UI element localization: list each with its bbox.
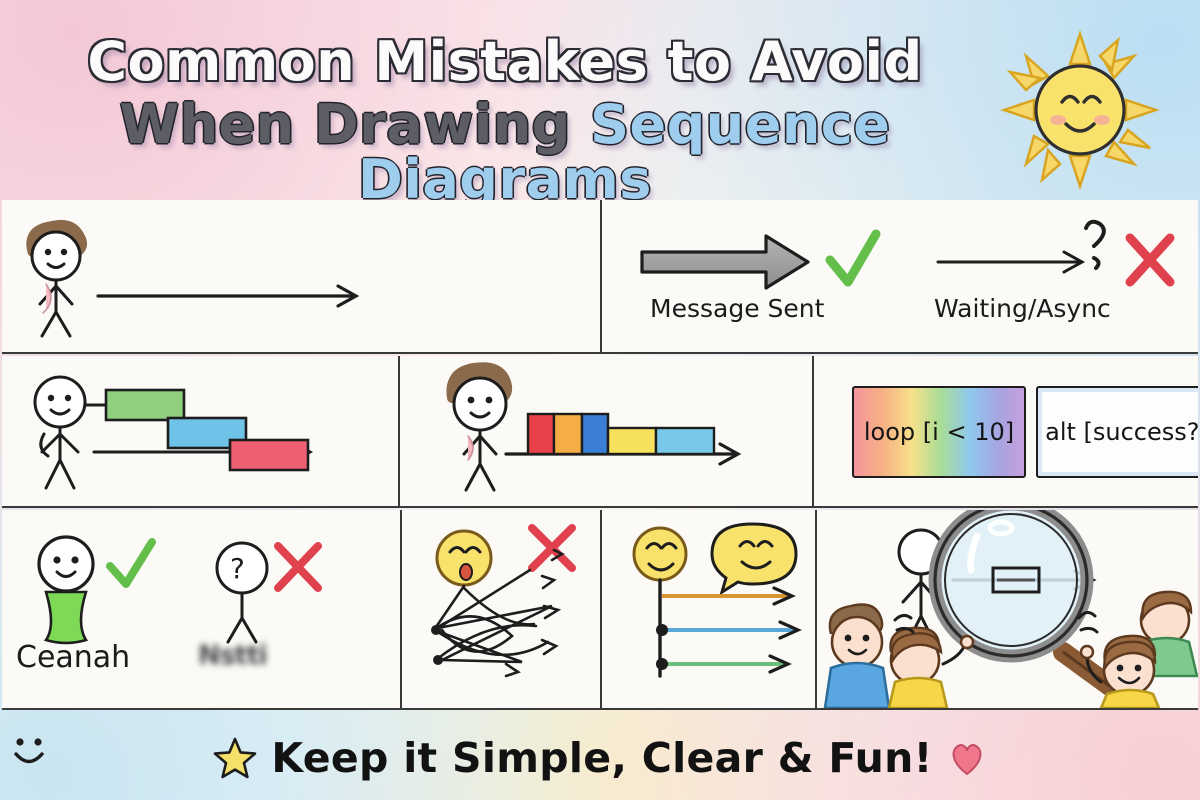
smiling-head-icon	[39, 537, 93, 643]
kid-yellow-icon	[889, 628, 973, 708]
tangled-arrows-illustration	[402, 510, 600, 708]
poster-canvas: Common Mistakes to Avoid When Drawing Se…	[0, 0, 1200, 800]
heart-icon	[947, 738, 987, 778]
label-bad-name: Nstti	[198, 640, 267, 671]
grid-rowline-3	[2, 708, 1198, 710]
too-much-detail-illustration	[817, 510, 1198, 708]
panel-arrow-types: Message Sent Waiting/Async	[602, 200, 1198, 352]
overloaded-lifeline-illustration	[400, 356, 812, 506]
panel-grid: Message Sent Waiting/Async	[2, 198, 1198, 712]
bottom-banner: Keep it Simple, Clear & Fun!	[0, 716, 1200, 800]
arrow-types-illustration	[602, 200, 1198, 352]
speech-bubble-face-icon	[712, 524, 796, 592]
fragment-box-alt: alt [success?]	[1036, 386, 1198, 478]
panel-naming: ? Ceanah Nstti	[2, 510, 400, 708]
star-icon	[213, 736, 257, 780]
panel-missing-labels	[2, 200, 600, 352]
fragment-label-alt: alt [success?]	[1045, 418, 1198, 446]
green-check-icon	[110, 542, 152, 584]
missing-label-illustration	[2, 200, 600, 352]
label-waiting-async: Waiting/Async	[934, 294, 1111, 323]
panel-clean-arrows	[602, 510, 815, 708]
surprised-face-icon	[437, 531, 491, 585]
poster-title: Common Mistakes to Avoid When Drawing Se…	[0, 34, 1010, 207]
grid-rowline-2	[2, 506, 1198, 508]
fragment-label-loop: loop [i < 10]	[864, 418, 1014, 446]
panel-tangled-arrows	[402, 510, 600, 708]
banner-text: Keep it Simple, Clear & Fun!	[271, 734, 932, 782]
sun-smiling-icon	[1000, 30, 1160, 190]
label-message-sent: Message Sent	[650, 294, 824, 323]
svg-text:?: ?	[230, 552, 245, 585]
happy-face-icon	[634, 528, 686, 580]
panel-fragments: loop [i < 10] alt [success?]	[814, 356, 1198, 506]
red-cross-icon	[278, 546, 318, 588]
panel-overloaded-lifeline	[400, 356, 812, 506]
solid-arrow-icon	[642, 236, 808, 288]
kid-blue-icon	[825, 605, 889, 709]
green-arrow-icon	[656, 656, 788, 672]
naming-illustration: ?	[2, 510, 400, 708]
blue-arrow-icon	[656, 622, 798, 638]
misaligned-activation-illustration	[2, 356, 398, 506]
green-check-icon	[830, 234, 876, 282]
confused-head-icon: ?	[217, 543, 267, 642]
kid-yellow-right-icon	[1081, 636, 1159, 708]
panel-too-much-detail	[817, 510, 1198, 708]
grid-rowline-1	[2, 352, 1198, 354]
red-cross-icon	[1130, 238, 1170, 282]
panel-misaligned-activation	[2, 356, 398, 506]
red-cross-icon	[532, 528, 572, 568]
title-line-1: Common Mistakes to Avoid	[0, 34, 1010, 89]
title-line-2: When Drawing Sequence Diagrams	[0, 97, 1010, 207]
title-line-2-part-1: When Drawing	[120, 93, 591, 156]
fragment-box-loop: loop [i < 10]	[852, 386, 1026, 478]
label-good-name: Ceanah	[16, 640, 130, 675]
thin-arrow-icon	[938, 222, 1104, 272]
clean-arrows-illustration	[602, 510, 815, 708]
